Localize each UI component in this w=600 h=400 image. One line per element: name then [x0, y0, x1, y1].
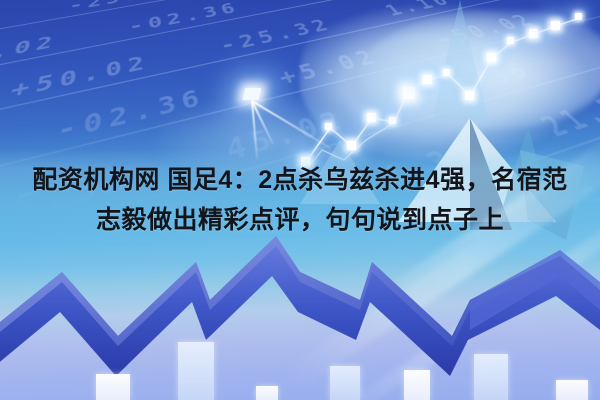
chart-bar — [556, 380, 588, 400]
zigzag-arrow-tail — [470, 250, 600, 330]
chart-bar — [96, 374, 130, 400]
chart-bar — [330, 366, 360, 400]
page-title: 配资机构网 国足4：2点杀乌兹杀进4强，名宿范 志毅做出精彩点评，句句说到点子上 — [0, 160, 600, 240]
headline-line-1: 配资机构网 国足4：2点杀乌兹杀进4强，名宿范 — [0, 160, 600, 200]
chart-bar — [404, 370, 430, 400]
headline-line-2: 志毅做出精彩点评，句句说到点子上 — [0, 200, 600, 240]
chart-bar — [178, 342, 214, 400]
article-banner: -02.36+50.02-25.3221.1645.02-11.25+5.02-… — [0, 0, 600, 400]
chart-bar — [256, 386, 278, 400]
chart-bar — [474, 354, 508, 400]
